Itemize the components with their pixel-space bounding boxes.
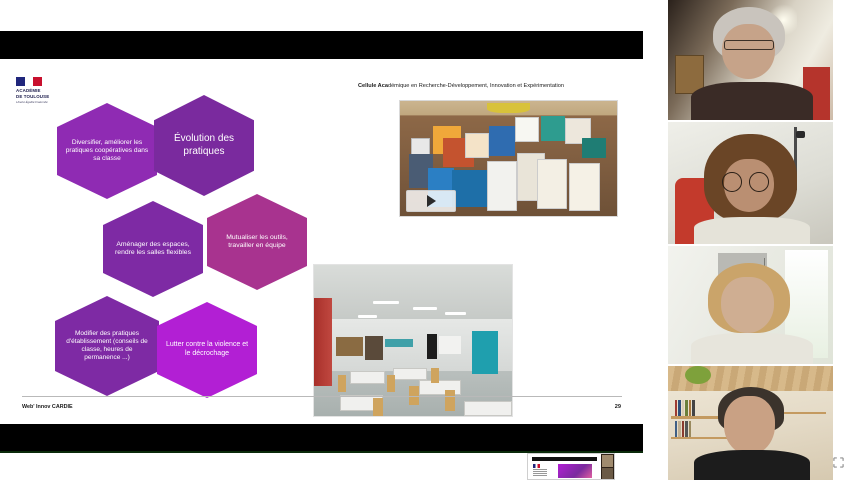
- hexagon-diversifier: Diversifier, améliorer les pratiques coo…: [57, 103, 157, 199]
- slide-header: Cellule Académique en Recherche-Développ…: [358, 83, 564, 89]
- participant-tile-2[interactable]: [668, 122, 833, 244]
- slide-page-number: 29: [615, 404, 621, 410]
- footer-label: Web' Innov CARDIE: [22, 404, 73, 410]
- mini-participant-strip: [601, 454, 614, 479]
- mini-flag-icon: [533, 464, 540, 468]
- glasses-icon: [749, 172, 769, 192]
- slide-header-rest: démique en Recherche-Développement, Inno…: [388, 83, 564, 89]
- participant-rail: [665, 0, 853, 480]
- mini-slide: [528, 454, 601, 479]
- participant-3-video: [668, 246, 833, 364]
- hexagon-amenager-espaces: Aménager des espaces, rendre les salles …: [103, 201, 203, 297]
- hexagon-lutter-violence: Lutter contre la violence et le décrocha…: [157, 302, 257, 398]
- mini-slide-bar: [532, 457, 597, 461]
- play-icon: [427, 195, 436, 207]
- hexagon-diagram: Diversifier, améliorer les pratiques coo…: [0, 59, 320, 399]
- hexagon-mutualiser-outils: Mutualiser les outils, travailler en équ…: [207, 194, 307, 290]
- letterbox-bar-bottom: [0, 424, 643, 451]
- mini-text-lines: [533, 469, 547, 477]
- shared-screen-area[interactable]: ACADÉMIE DE TOULOUSE Liberté Égalité Fra…: [0, 0, 665, 480]
- participant-4-video: [668, 366, 833, 480]
- hexagon-evolution-des-pratiques: Évolution des pratiques: [154, 95, 254, 196]
- letterbox-bar-top: [0, 31, 643, 59]
- play-button[interactable]: [406, 190, 456, 212]
- slide-header-bold: Cellule Aca: [358, 83, 388, 89]
- mini-slide-image: [558, 464, 592, 478]
- slide-thumbnail-preview[interactable]: [527, 453, 615, 480]
- glasses-icon: [724, 40, 774, 51]
- embedded-video-player[interactable]: [399, 100, 618, 217]
- video-conference-screen: ACADÉMIE DE TOULOUSE Liberté Égalité Fra…: [0, 0, 853, 480]
- participant-1-video: [668, 0, 833, 120]
- presentation-slide: ACADÉMIE DE TOULOUSE Liberté Égalité Fra…: [0, 59, 643, 424]
- participant-tile-1[interactable]: [668, 0, 833, 120]
- classroom-photo: [313, 264, 513, 417]
- fullscreen-icon[interactable]: [833, 457, 844, 468]
- video-chair: [487, 103, 530, 113]
- glasses-icon: [722, 172, 742, 192]
- participant-2-video: [668, 122, 833, 244]
- footer-divider: [22, 396, 622, 397]
- participant-tile-4[interactable]: [668, 366, 833, 480]
- hexagon-modifier-pratiques: Modifier des pratiques d'établissement (…: [55, 296, 159, 396]
- participant-tile-3[interactable]: [668, 246, 833, 364]
